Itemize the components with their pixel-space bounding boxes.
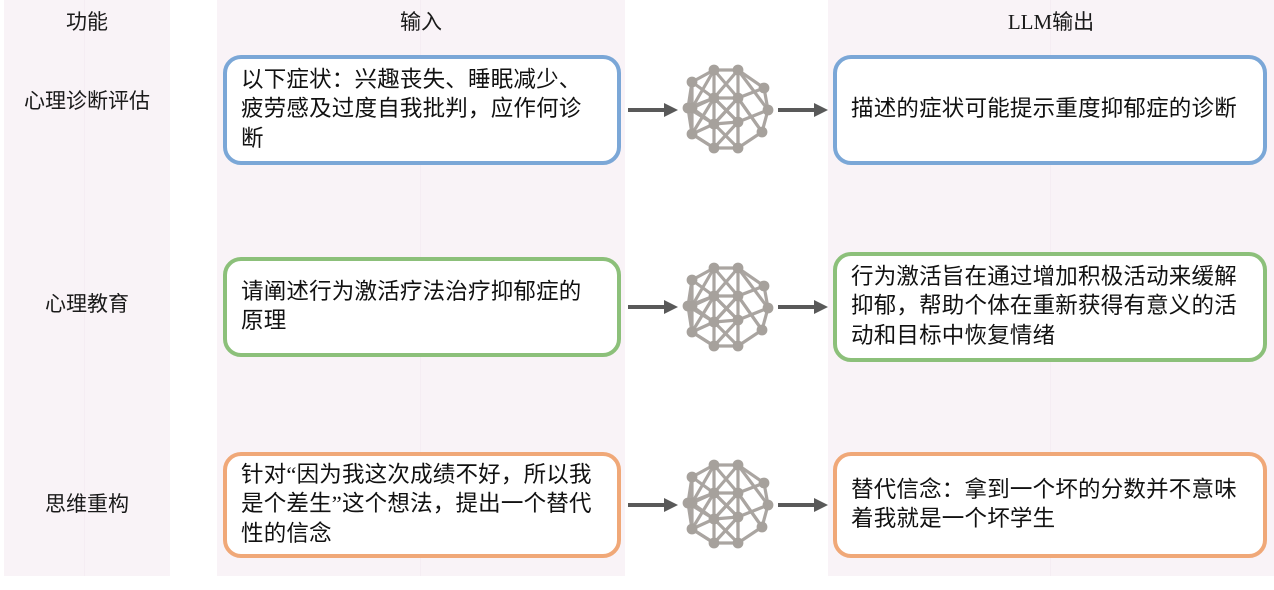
arrow-right-icon <box>778 496 830 514</box>
input-box-text: 请阐述行为激活疗法治疗抑郁症的原理 <box>241 277 603 336</box>
neural-network-icon <box>676 256 784 358</box>
output-box-text: 描述的症状可能提示重度抑郁症的诊断 <box>851 94 1237 123</box>
arrow-right-icon <box>628 298 680 316</box>
arrow-right-icon <box>778 101 830 119</box>
column-header-input: 输入 <box>217 10 625 35</box>
input-box[interactable]: 针对“因为我这次成绩不好，所以我是个差生”这个想法，提出一个替代性的信念 <box>223 452 621 558</box>
neural-network-icon <box>676 58 784 160</box>
row-function-label: 思维重构 <box>4 488 170 518</box>
arrow-right-icon <box>778 298 830 316</box>
output-box-text: 替代信念：拿到一个坏的分数并不意味着我就是一个坏学生 <box>851 475 1249 534</box>
input-box-text: 以下症状：兴趣丧失、睡眠减少、疲劳感及过度自我批判，应作何诊断 <box>241 65 603 153</box>
row-function-label: 心理诊断评估 <box>4 85 170 115</box>
neural-network-icon <box>676 453 784 555</box>
output-box[interactable]: 行为激活旨在通过增加积极活动来缓解抑郁，帮助个体在重新获得有意义的活动和目标中恢… <box>833 252 1267 362</box>
input-box[interactable]: 请阐述行为激活疗法治疗抑郁症的原理 <box>223 257 621 357</box>
arrow-right-icon <box>628 496 680 514</box>
arrow-right-icon <box>628 101 680 119</box>
output-box[interactable]: 替代信念：拿到一个坏的分数并不意味着我就是一个坏学生 <box>833 452 1267 558</box>
input-box[interactable]: 以下症状：兴趣丧失、睡眠减少、疲劳感及过度自我批判，应作何诊断 <box>223 55 621 165</box>
output-box[interactable]: 描述的症状可能提示重度抑郁症的诊断 <box>833 55 1267 165</box>
input-box-text: 针对“因为我这次成绩不好，所以我是个差生”这个想法，提出一个替代性的信念 <box>241 460 603 548</box>
column-header-function: 功能 <box>4 10 170 35</box>
column-header-output: LLM输出 <box>828 10 1274 35</box>
output-box-text: 行为激活旨在通过增加积极活动来缓解抑郁，帮助个体在重新获得有意义的活动和目标中恢… <box>851 262 1249 350</box>
row-function-label: 心理教育 <box>4 288 170 318</box>
diagram-grid: 功能 输入 LLM输出 心理诊断评估 以下症状：兴趣丧失、睡眠减少、疲劳感及过度… <box>0 0 1274 590</box>
